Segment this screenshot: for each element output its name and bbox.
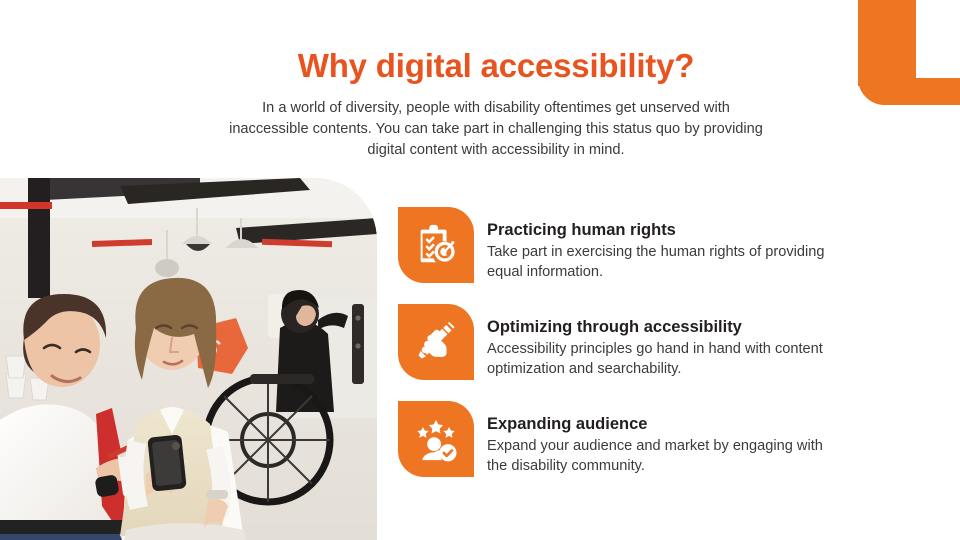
- clipboard-target-icon: [413, 222, 459, 268]
- hand-holding-pen-icon: [413, 319, 459, 365]
- feature-icon-badge: [398, 401, 474, 477]
- feature-title: Expanding audience: [487, 414, 847, 435]
- feature-description: Expand your audience and market by engag…: [487, 436, 847, 476]
- feature-description: Accessibility principles go hand in hand…: [487, 339, 847, 379]
- feature-item-expanding-audience: Expanding audience Expand your audience …: [398, 401, 868, 477]
- slide-subtitle: In a world of diversity, people with dis…: [186, 98, 806, 161]
- feature-item-optimizing-through-accessibility: Optimizing through accessibility Accessi…: [398, 304, 868, 380]
- feature-title: Practicing human rights: [487, 220, 847, 241]
- slide-canvas: Why digital accessibility? In a world of…: [0, 0, 960, 540]
- feature-list: Practicing human rights Take part in exe…: [398, 207, 868, 477]
- hero-photo: [0, 178, 377, 540]
- feature-title: Optimizing through accessibility: [487, 317, 847, 338]
- feature-icon-badge: [398, 207, 474, 283]
- feature-text-block: Optimizing through accessibility Accessi…: [474, 304, 847, 379]
- feature-icon-badge: [398, 304, 474, 380]
- page-title: Why digital accessibility?: [186, 46, 806, 86]
- feature-text-block: Expanding audience Expand your audience …: [474, 401, 847, 476]
- feature-item-practicing-human-rights: Practicing human rights Take part in exe…: [398, 207, 868, 283]
- person-stars-check-icon: [413, 416, 459, 462]
- feature-text-block: Practicing human rights Take part in exe…: [474, 207, 847, 282]
- feature-description: Take part in exercising the human rights…: [487, 242, 847, 282]
- corner-bracket-horizontal-arm: [858, 78, 960, 105]
- slide-header: Why digital accessibility? In a world of…: [186, 46, 806, 161]
- hero-photo-image: [0, 178, 377, 540]
